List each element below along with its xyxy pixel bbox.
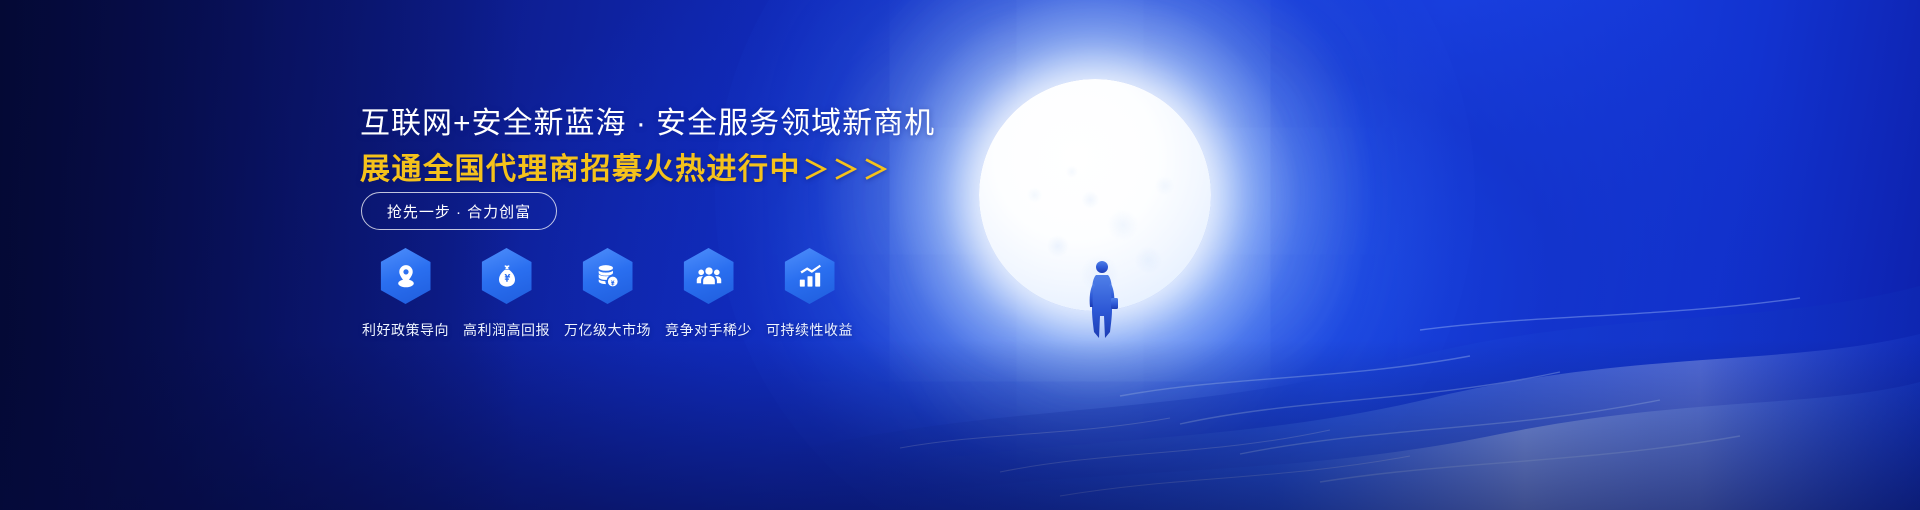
promo-banner: 互联网+安全新蓝海 · 安全服务领域新商机 展通全国代理商招募火热进行中＞＞＞ … bbox=[0, 0, 1920, 510]
chevron-right-icon: ＞＞＞ bbox=[801, 155, 893, 185]
feature-label: 万亿级大市场 bbox=[564, 320, 651, 340]
location-pin-icon bbox=[381, 248, 431, 304]
feature-item-policy[interactable]: 利好政策导向 bbox=[355, 248, 456, 340]
banner-content: 互联网+安全新蓝海 · 安全服务领域新商机 展通全国代理商招募火热进行中＞＞＞ … bbox=[355, 0, 1075, 510]
feature-item-market[interactable]: 万亿级大市场 bbox=[557, 248, 658, 340]
feature-label: 竞争对手稀少 bbox=[665, 320, 752, 340]
banner-subheadline: 展通全国代理商招募火热进行中＞＞＞ bbox=[360, 144, 893, 188]
cta-button[interactable]: 抢先一步 · 合力创富 bbox=[361, 192, 557, 230]
feature-label: 可持续性收益 bbox=[766, 320, 853, 340]
money-bag-icon bbox=[482, 248, 532, 304]
banner-headline: 互联网+安全新蓝海 · 安全服务领域新商机 bbox=[360, 98, 935, 142]
bar-chart-icon bbox=[785, 248, 835, 304]
feature-list: 利好政策导向 高利润高回报 bbox=[355, 248, 860, 340]
feature-label: 利好政策导向 bbox=[362, 320, 449, 340]
feature-item-sustainable[interactable]: 可持续性收益 bbox=[759, 248, 860, 340]
people-group-icon bbox=[684, 248, 734, 304]
feature-label: 高利润高回报 bbox=[463, 320, 550, 340]
subheadline-text: 展通全国代理商招募火热进行中 bbox=[360, 153, 801, 186]
feature-item-competition[interactable]: 竞争对手稀少 bbox=[658, 248, 759, 340]
feature-item-profit[interactable]: 高利润高回报 bbox=[456, 248, 557, 340]
coin-stack-icon bbox=[583, 248, 633, 304]
